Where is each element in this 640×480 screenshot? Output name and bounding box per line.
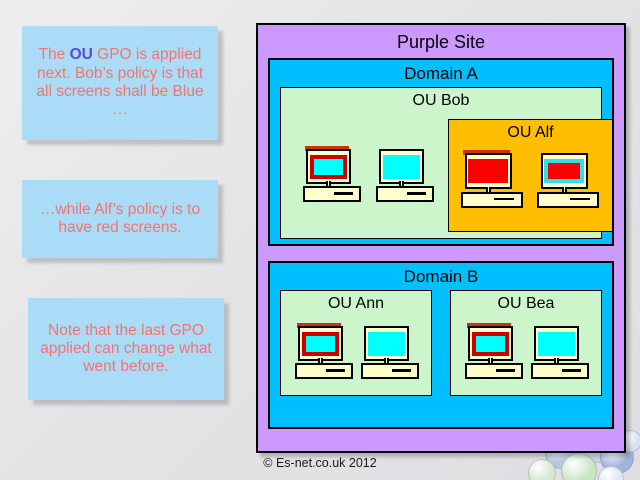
monitor-screen-icon xyxy=(383,155,420,179)
monitor-screen-icon xyxy=(472,332,509,356)
drive-slot-icon xyxy=(334,192,352,195)
drive-slot-icon xyxy=(496,369,514,372)
computer-base-icon xyxy=(537,192,599,208)
note-last-gpo: Note that the last GPO applied can chang… xyxy=(28,298,224,400)
domain-a-title: Domain A xyxy=(270,60,612,87)
computer-bob-2 xyxy=(376,146,434,202)
drive-slot-icon xyxy=(494,198,514,201)
monitor-screen-icon xyxy=(310,155,347,179)
drive-slot-icon xyxy=(392,369,410,372)
monitor-screen-icon xyxy=(368,332,405,356)
domain-b-container: Domain B OU Ann OU Bea xyxy=(268,261,614,429)
domain-a-container: Domain A OU Bob OU Alf xyxy=(268,58,614,246)
computer-base-icon xyxy=(295,363,353,379)
note-alf-policy: …while Alf’s policy is to have red scree… xyxy=(22,180,218,258)
purple-site-container: Purple Site Domain A OU Bob OU Alf Domai… xyxy=(256,23,626,453)
monitor-screen-icon xyxy=(538,332,575,356)
ou-bea-container: OU Bea xyxy=(450,290,602,396)
computer-bea-1 xyxy=(465,323,523,379)
computer-base-icon xyxy=(531,363,589,379)
note-alf-policy-text: …while Alf’s policy is to have red scree… xyxy=(28,201,212,238)
computer-base-icon xyxy=(461,192,523,208)
ou-bob-container: OU Bob OU Alf xyxy=(280,87,602,239)
drive-slot-icon xyxy=(562,369,580,372)
computer-ann-2 xyxy=(361,323,419,379)
ou-bea-title: OU Bea xyxy=(451,291,601,313)
ou-alf-title: OU Alf xyxy=(449,120,612,142)
site-title: Purple Site xyxy=(258,32,624,53)
computer-base-icon xyxy=(465,363,523,379)
monitor-screen-icon xyxy=(544,159,584,183)
computer-ann-1 xyxy=(295,323,353,379)
domain-b-title: Domain B xyxy=(270,263,612,290)
computer-base-icon xyxy=(361,363,419,379)
computer-alf-2 xyxy=(537,150,599,208)
note-ou-gpo: The OU GPO is applied next. Bob’s policy… xyxy=(22,26,218,140)
monitor-screen-icon xyxy=(468,159,508,183)
ou-bob-title: OU Bob xyxy=(281,88,601,110)
ou-ann-title: OU Ann xyxy=(281,291,431,313)
ou-alf-container: OU Alf xyxy=(448,119,613,232)
drive-slot-icon xyxy=(326,369,344,372)
note-last-gpo-text: Note that the last GPO applied can chang… xyxy=(34,322,218,377)
computer-bob-1 xyxy=(303,146,361,202)
computer-base-icon xyxy=(303,186,361,202)
drive-slot-icon xyxy=(570,198,590,201)
monitor-screen-icon xyxy=(302,332,339,356)
ou-ann-container: OU Ann xyxy=(280,290,432,396)
computer-alf-1 xyxy=(461,150,523,208)
copyright-footer: © Es-net.co.uk 2012 xyxy=(0,456,640,470)
computer-base-icon xyxy=(376,186,434,202)
note-ou-gpo-text: The OU GPO is applied next. Bob’s policy… xyxy=(28,46,212,119)
drive-slot-icon xyxy=(407,192,425,195)
computer-bea-2 xyxy=(531,323,589,379)
